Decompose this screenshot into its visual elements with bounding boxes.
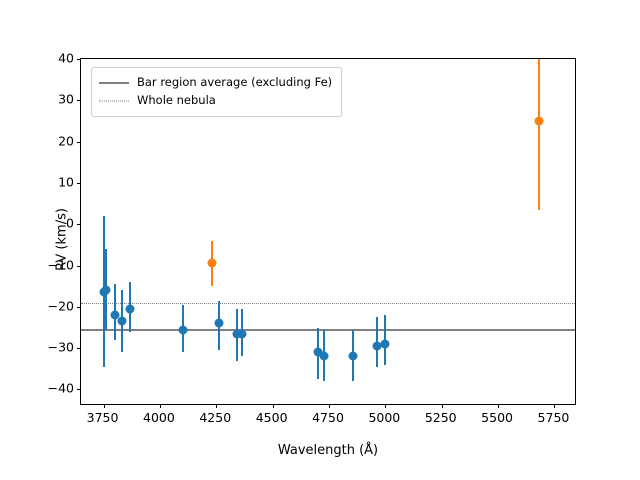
y-tick-label: −30 <box>48 340 74 355</box>
data-point-marker <box>381 340 390 349</box>
legend-item: Bar region average (excluding Fe) <box>99 74 332 92</box>
y-tick-label: 20 <box>58 133 74 148</box>
x-tick-label: 4250 <box>199 410 231 425</box>
y-tick-mark <box>77 100 81 101</box>
x-tick-label: 5750 <box>538 410 570 425</box>
data-point-marker <box>178 325 187 334</box>
reference-line-bar-region-average <box>81 329 575 331</box>
plot-axes: Bar region average (excluding Fe)Whole n… <box>80 58 576 405</box>
x-tick-label: 4750 <box>312 410 344 425</box>
y-tick-mark <box>77 183 81 184</box>
error-bar <box>538 59 540 210</box>
x-tick-label: 4000 <box>143 410 175 425</box>
x-tick-mark <box>104 404 105 408</box>
y-tick-mark <box>77 142 81 143</box>
x-axis-title: Wavelength (Å) <box>80 443 576 458</box>
x-tick-mark <box>554 404 555 408</box>
x-tick-mark <box>216 404 217 408</box>
legend-label: Bar region average (excluding Fe) <box>137 77 332 89</box>
legend-line-swatch <box>99 78 129 88</box>
x-tick-label: 5500 <box>481 410 513 425</box>
legend-label: Whole nebula <box>137 95 216 107</box>
x-tick-mark <box>385 404 386 408</box>
x-tick-label: 3750 <box>87 410 119 425</box>
chart-legend: Bar region average (excluding Fe)Whole n… <box>91 67 342 117</box>
y-tick-mark <box>77 348 81 349</box>
x-tick-mark <box>442 404 443 408</box>
x-tick-label: 4500 <box>256 410 288 425</box>
x-axis-tick-labels: 375040004250450047505000525055005750 <box>80 410 576 430</box>
data-point-marker <box>348 352 357 361</box>
y-tick-mark <box>77 389 81 390</box>
data-point-marker <box>102 286 111 295</box>
reference-line-whole-nebula <box>81 303 575 304</box>
x-tick-label: 5250 <box>425 410 457 425</box>
x-tick-mark <box>160 404 161 408</box>
y-tick-label: 30 <box>58 92 74 107</box>
legend-line-swatch <box>99 96 129 106</box>
y-tick-label: −40 <box>48 381 74 396</box>
data-point-marker <box>534 116 543 125</box>
data-point-marker <box>320 352 329 361</box>
x-tick-mark <box>329 404 330 408</box>
y-axis-title: RV (km/s) <box>55 170 70 310</box>
x-tick-label: 5000 <box>368 410 400 425</box>
y-tick-mark <box>77 224 81 225</box>
y-tick-label: 40 <box>58 51 74 66</box>
y-tick-mark <box>77 307 81 308</box>
data-point-marker <box>207 259 216 268</box>
legend-item: Whole nebula <box>99 92 332 110</box>
radial-velocity-scatter-figure: Bar region average (excluding Fe)Whole n… <box>0 0 640 480</box>
y-tick-mark <box>77 59 81 60</box>
data-point-marker <box>214 319 223 328</box>
y-tick-mark <box>77 266 81 267</box>
data-point-marker <box>118 317 127 326</box>
data-point-marker <box>125 304 134 313</box>
x-tick-mark <box>273 404 274 408</box>
x-tick-mark <box>498 404 499 408</box>
data-point-marker <box>237 329 246 338</box>
